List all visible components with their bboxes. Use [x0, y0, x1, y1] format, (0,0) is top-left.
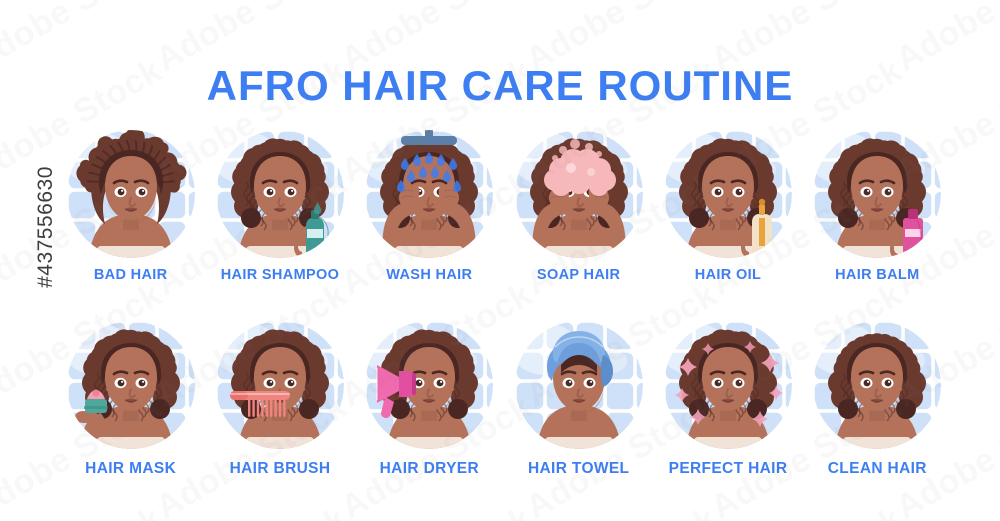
- watermark-text: Adobe Stock: [150, 499, 354, 521]
- step-label-hair-brush: HAIR BRUSH: [230, 460, 331, 478]
- step-card-wash-hair[interactable]: WASH HAIR: [355, 130, 504, 283]
- step-illustration-clean-hair: [813, 321, 941, 449]
- step-illustration-hair-brush: [216, 321, 344, 449]
- step-illustration-hair-towel: [515, 321, 643, 449]
- step-card-bad-hair[interactable]: BAD HAIR: [56, 130, 205, 283]
- step-illustration-wash-hair: [365, 130, 493, 258]
- step-illustration-hair-balm: [813, 130, 941, 258]
- step-card-soap-hair[interactable]: SOAP HAIR: [504, 130, 653, 283]
- step-card-hair-dryer[interactable]: HAIR DRYER: [355, 321, 504, 478]
- step-illustration-hair-dryer: [365, 321, 493, 449]
- step-card-hair-oil[interactable]: HAIR OIL: [653, 130, 802, 283]
- step-illustration-hair-mask: [67, 321, 195, 449]
- step-label-wash-hair: WASH HAIR: [386, 267, 472, 283]
- watermark-text: Adobe Stock: [520, 499, 724, 521]
- step-card-hair-brush[interactable]: HAIR BRUSH: [205, 321, 354, 478]
- step-illustration-hair-oil: [664, 130, 792, 258]
- step-label-hair-mask: HAIR MASK: [85, 460, 176, 478]
- step-label-hair-towel: HAIR TOWEL: [528, 460, 629, 478]
- step-card-hair-shampoo[interactable]: HAIR SHAMPOO: [205, 130, 354, 283]
- page-title: AFRO HAIR CARE ROUTINE: [0, 62, 1000, 110]
- step-label-soap-hair: SOAP HAIR: [537, 267, 620, 283]
- step-card-hair-balm[interactable]: HAIR BALM: [803, 130, 952, 283]
- hair-care-routine-steps: BAD HAIR: [56, 130, 952, 478]
- step-label-hair-oil: HAIR OIL: [695, 267, 761, 283]
- watermark-text: Adobe Stock: [335, 499, 539, 521]
- watermark-text: Adobe Stock: [705, 499, 909, 521]
- step-label-perfect-hair: PERFECT HAIR: [669, 460, 788, 478]
- step-card-hair-towel[interactable]: HAIR TOWEL: [504, 321, 653, 478]
- stock-image-id: #437556630: [34, 147, 58, 307]
- step-illustration-bad-hair: [67, 130, 195, 258]
- step-label-hair-shampoo: HAIR SHAMPOO: [221, 267, 340, 283]
- step-card-hair-mask[interactable]: HAIR MASK: [56, 321, 205, 478]
- step-card-clean-hair[interactable]: CLEAN HAIR: [803, 321, 952, 478]
- step-illustration-hair-shampoo: [216, 130, 344, 258]
- step-card-perfect-hair[interactable]: PERFECT HAIR: [653, 321, 802, 478]
- step-label-hair-balm: HAIR BALM: [835, 267, 920, 283]
- watermark-text: Adobe Stock: [0, 499, 169, 521]
- step-illustration-soap-hair: [515, 130, 643, 258]
- watermark-text: Adobe Stock: [890, 499, 1000, 521]
- step-illustration-perfect-hair: [664, 321, 792, 449]
- step-label-clean-hair: CLEAN HAIR: [828, 460, 927, 478]
- step-label-bad-hair: BAD HAIR: [94, 267, 168, 283]
- step-label-hair-dryer: HAIR DRYER: [380, 460, 479, 478]
